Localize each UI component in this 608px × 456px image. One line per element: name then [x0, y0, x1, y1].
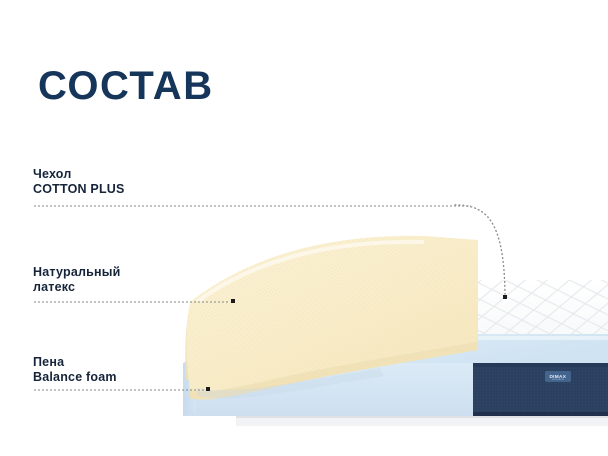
leader-line-cover [33, 205, 471, 207]
label-latex-line1: Натуральный [33, 265, 121, 280]
leader-dot-latex [231, 299, 235, 303]
composition-infographic: СОСТАВ [0, 0, 608, 456]
leader-dot-foam [206, 387, 210, 391]
base-shadow [236, 416, 608, 426]
label-latex-line2: латекс [33, 280, 121, 295]
label-foam-line1: Пена [33, 355, 117, 370]
brand-badge: DIMAX матрасы [545, 371, 571, 382]
mattress-illustration [0, 230, 608, 430]
leader-line-latex [33, 301, 230, 303]
page-title: СОСТАВ [38, 66, 214, 106]
side-band [473, 363, 608, 416]
label-cover-line1: Чехол [33, 167, 125, 182]
leader-line-foam [33, 389, 205, 391]
leader-dot-cover [503, 295, 507, 299]
label-foam: Пена Balance foam [33, 355, 117, 385]
label-cover-line2: COTTON PLUS [33, 182, 125, 197]
leader-line-cover-curve [455, 198, 515, 298]
label-latex: Натуральный латекс [33, 265, 121, 295]
brand-badge-subtext: матрасы [545, 378, 571, 381]
label-cover: Чехол COTTON PLUS [33, 167, 125, 197]
label-foam-line2: Balance foam [33, 370, 117, 385]
